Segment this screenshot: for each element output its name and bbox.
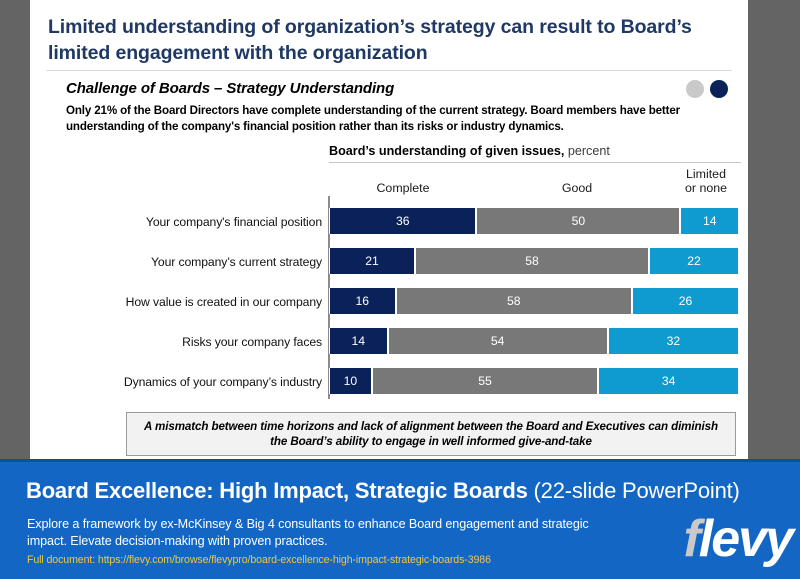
promo-title: Board Excellence: High Impact, Strategic… xyxy=(26,478,740,504)
section-title: Challenge of Boards – Strategy Understan… xyxy=(66,80,394,97)
column-header-good: Good xyxy=(510,181,644,195)
circle-navy-icon xyxy=(710,80,728,98)
callout-box: A mismatch between time horizons and lac… xyxy=(126,412,736,456)
chart-row-label: Your company’s current strategy xyxy=(90,255,322,269)
slide-canvas: Limited understanding of organization’s … xyxy=(30,0,748,459)
bar-segment-complete: 14 xyxy=(329,328,388,354)
section-summary-text: Only 21% of the Board Directors have com… xyxy=(66,103,726,134)
column-header-complete: Complete xyxy=(346,181,460,195)
bar-segment-limited: 22 xyxy=(649,248,739,274)
chart-row: Dynamics of your company’s industry10553… xyxy=(90,365,740,405)
chart-rows: Your company's financial position365014Y… xyxy=(90,205,740,405)
chart-row: Your company’s current strategy215822 xyxy=(90,245,740,285)
chart-title-unit: percent xyxy=(564,144,610,158)
column-header-limited-line2: or none xyxy=(666,181,746,195)
promo-description: Explore a framework by ex-McKinsey & Big… xyxy=(27,516,627,550)
chart-title-main: Board’s understanding of given issues, xyxy=(329,144,564,158)
promo-url[interactable]: Full document: https://flevy.com/browse/… xyxy=(27,554,491,566)
circle-gray-icon xyxy=(686,80,704,98)
chart-row: How value is created in our company16582… xyxy=(90,285,740,325)
bar-segment-limited: 32 xyxy=(608,328,739,354)
bar-segment-complete: 16 xyxy=(329,288,396,314)
bar-segment-good: 54 xyxy=(388,328,608,354)
promo-banner: Board Excellence: High Impact, Strategic… xyxy=(0,459,800,579)
bar-segment-complete: 10 xyxy=(329,368,372,394)
bar-segment-good: 50 xyxy=(476,208,680,234)
decorative-dots xyxy=(686,80,728,98)
column-header-limited-line1: Limited xyxy=(666,167,746,181)
bar-segment-limited: 34 xyxy=(598,368,739,394)
chart-row-label: Risks your company faces xyxy=(90,335,322,349)
chart-row-label: How value is created in our company xyxy=(90,295,322,309)
bar-segment-good: 55 xyxy=(372,368,598,394)
chart-row-label: Dynamics of your company’s industry xyxy=(90,375,322,389)
bar-segment-limited: 26 xyxy=(632,288,739,314)
chart-title-divider xyxy=(329,162,741,163)
bar-segment-complete: 21 xyxy=(329,248,415,274)
bar-segment-limited: 14 xyxy=(680,208,739,234)
headline-divider xyxy=(46,70,732,71)
promo-title-bold: Board Excellence: High Impact, Strategic… xyxy=(26,478,528,503)
column-header-limited-or-none: Limited or none xyxy=(666,167,746,195)
stacked-bar: 145432 xyxy=(329,328,739,354)
bar-segment-complete: 36 xyxy=(329,208,476,234)
flevy-logo: flevy xyxy=(683,510,792,568)
promo-title-light: (22-slide PowerPoint) xyxy=(528,478,740,503)
chart-row: Your company's financial position365014 xyxy=(90,205,740,245)
chart-row-label: Your company's financial position xyxy=(90,215,322,229)
page-title: Limited understanding of organization’s … xyxy=(48,14,730,66)
chart-title: Board’s understanding of given issues, p… xyxy=(329,144,610,158)
stacked-bar: 165826 xyxy=(329,288,739,314)
callout-text: A mismatch between time horizons and lac… xyxy=(137,419,725,449)
bar-segment-good: 58 xyxy=(396,288,632,314)
stacked-bar: 365014 xyxy=(329,208,739,234)
stacked-bar: 215822 xyxy=(329,248,739,274)
chart-row: Risks your company faces145432 xyxy=(90,325,740,365)
stacked-bar: 105534 xyxy=(329,368,739,394)
bar-segment-good: 58 xyxy=(415,248,649,274)
